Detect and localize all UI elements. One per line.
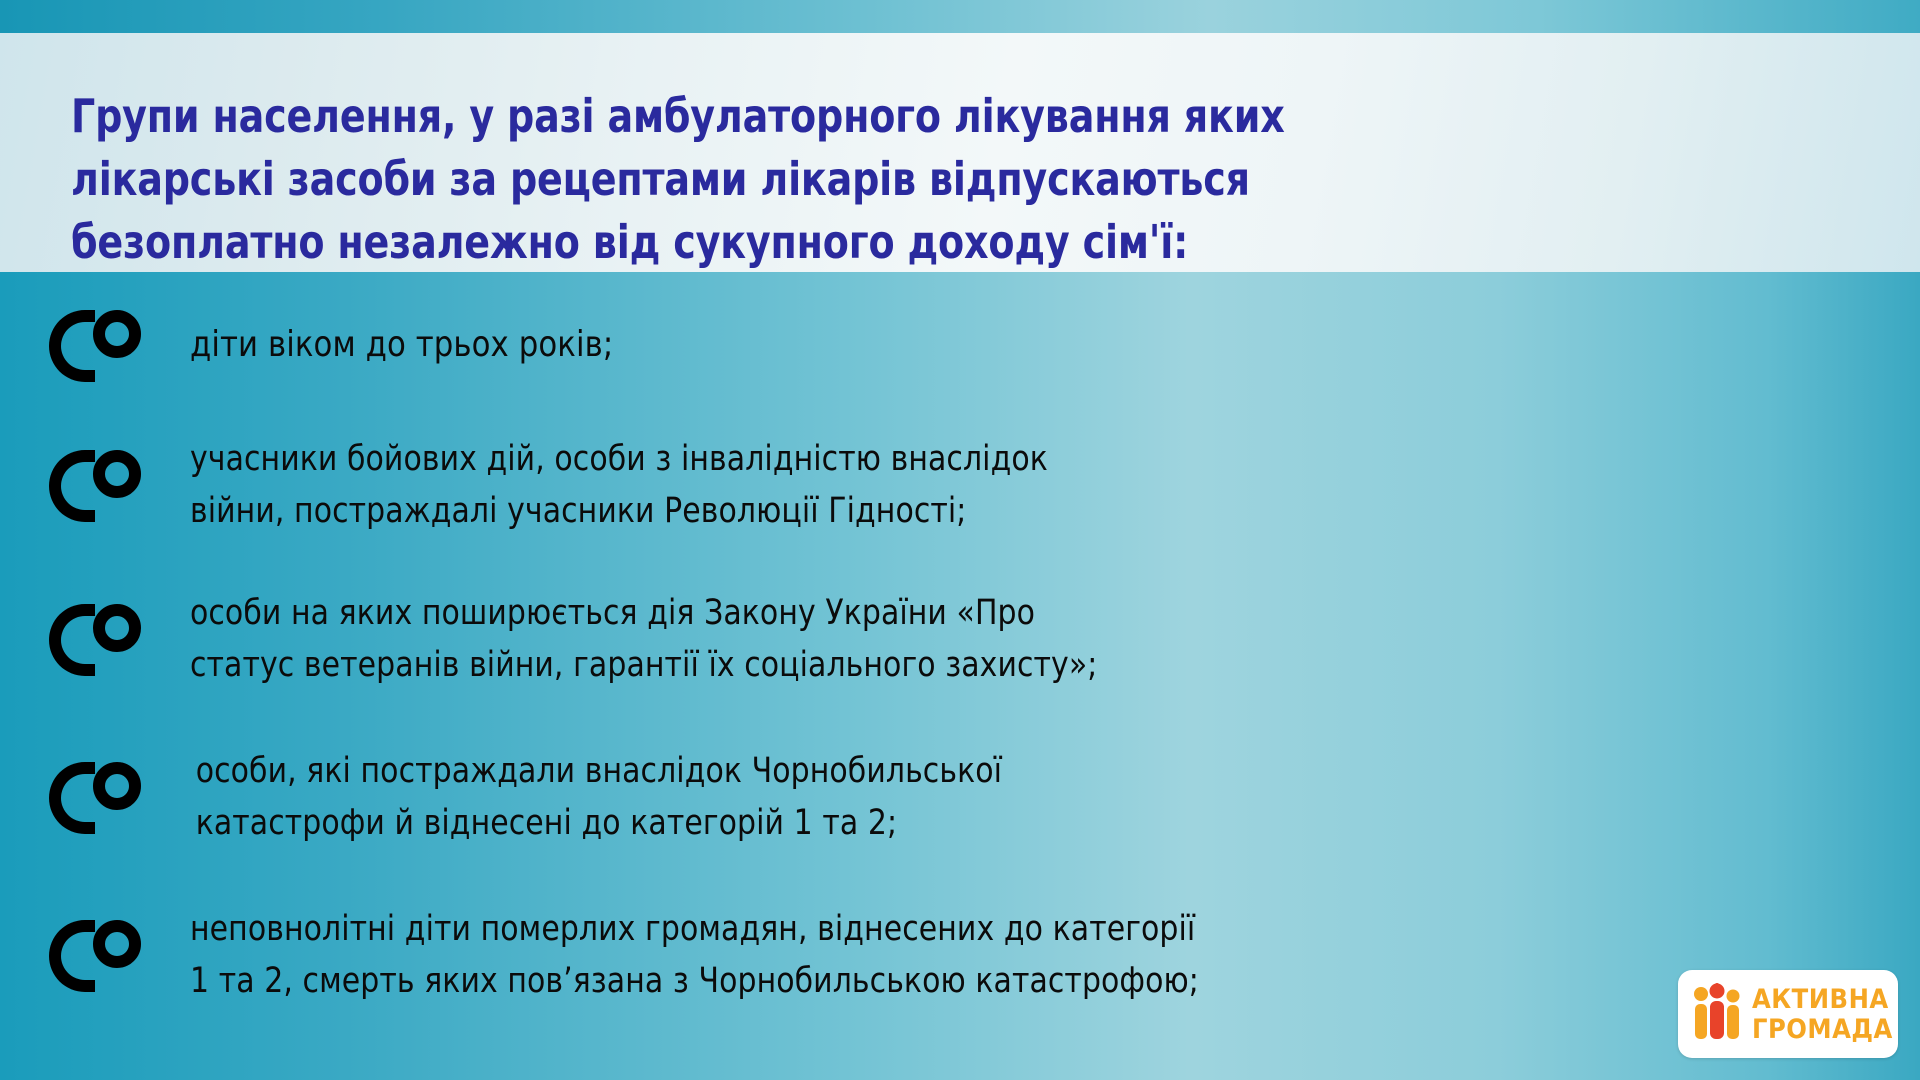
page-title: Групи населення, у разі амбулаторного лі… — [71, 85, 1469, 274]
person-body-icon — [49, 450, 95, 522]
person-head-icon — [93, 762, 141, 810]
list-item: учасники бойових дій, особи з інвалідніс… — [0, 410, 1920, 560]
brand-logo[interactable]: АКТИВНА ГРОМАДА — [1678, 970, 1898, 1058]
list-item-label: неповнолітні діти померлих громадян, від… — [190, 903, 1834, 1007]
person-head-icon — [93, 450, 141, 498]
person-body-icon — [49, 762, 95, 834]
person-icon — [0, 600, 190, 678]
raised-hands-icon — [1690, 983, 1742, 1045]
person-body-icon — [49, 920, 95, 992]
list-item-label: особи на яких поширюється дія Закону Укр… — [190, 587, 1834, 691]
logo-line-1: АКТИВНА — [1752, 986, 1893, 1013]
person-icon — [0, 758, 190, 836]
logo-line-2: ГРОМАДА — [1752, 1016, 1893, 1043]
infographic-slide: Групи населення, у разі амбулаторного лі… — [0, 0, 1920, 1080]
list-item: особи, які постраждали внаслідок Чорноби… — [0, 722, 1920, 872]
list-item: діти віком до трьох років; — [0, 280, 1920, 410]
list-item-label: учасники бойових дій, особи з інвалідніс… — [190, 433, 1834, 537]
person-body-icon — [49, 310, 95, 382]
logo-wordmark: АКТИВНА ГРОМАДА — [1752, 986, 1893, 1043]
top-accent-strip — [0, 0, 1920, 33]
person-body-icon — [49, 604, 95, 676]
list-item-label: особи, які постраждали внаслідок Чорноби… — [190, 745, 1834, 849]
list-item: неповнолітні діти померлих громадян, від… — [0, 880, 1920, 1030]
person-icon — [0, 446, 190, 524]
benefit-groups-list: діти віком до трьох років; учасники бойо… — [0, 272, 1920, 1080]
list-item-label: діти віком до трьох років; — [190, 319, 1834, 371]
person-icon — [0, 916, 190, 994]
person-head-icon — [93, 604, 141, 652]
header-band: Групи населення, у разі амбулаторного лі… — [0, 33, 1920, 272]
person-head-icon — [93, 920, 141, 968]
list-item: особи на яких поширюється дія Закону Укр… — [0, 564, 1920, 714]
person-head-icon — [93, 310, 141, 358]
person-icon — [0, 306, 190, 384]
